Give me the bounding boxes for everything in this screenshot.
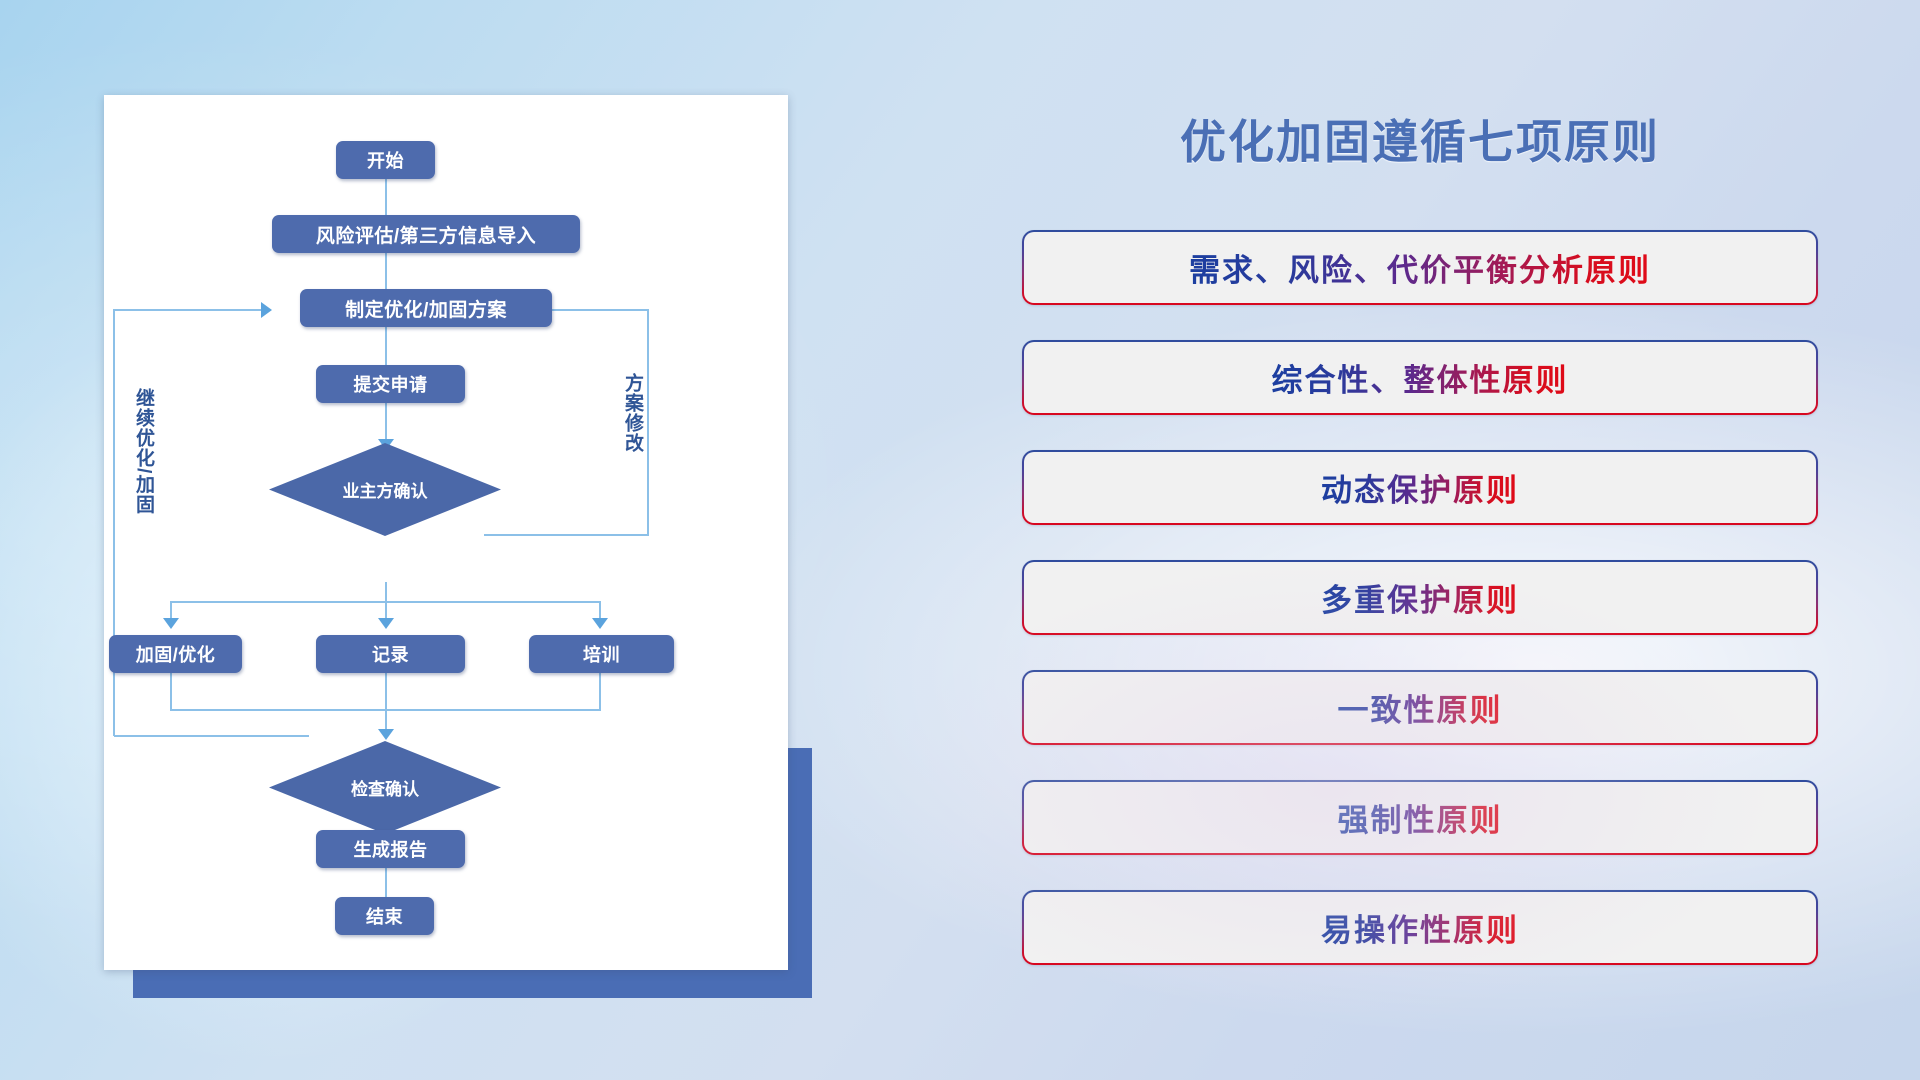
principle-item-7[interactable]: 易操作性原则 bbox=[1022, 890, 1818, 965]
edge-split-left-arrow bbox=[163, 618, 179, 629]
edge-label-continue-optimize: 继续优化/加固 bbox=[130, 388, 157, 514]
edge-merge-arrow bbox=[378, 729, 394, 740]
principle-label: 动态保护原则 bbox=[1321, 465, 1519, 510]
edge-rightloop-h-bottom bbox=[484, 534, 648, 536]
principle-label: 多重保护原则 bbox=[1321, 575, 1519, 620]
principle-label: 综合性、整体性原则 bbox=[1272, 355, 1569, 400]
slide-canvas: 开始 风险评估/第三方信息导入 制定优化/加固方案 提交申请 业主方确认 加固/… bbox=[0, 0, 1920, 1080]
edge-split-right-arrow bbox=[592, 618, 608, 629]
flow-node-generate-report[interactable]: 生成报告 bbox=[316, 830, 465, 868]
flow-node-risk-assessment[interactable]: 风险评估/第三方信息导入 bbox=[272, 215, 580, 253]
flowchart-diagram: 开始 风险评估/第三方信息导入 制定优化/加固方案 提交申请 业主方确认 加固/… bbox=[104, 95, 788, 970]
principle-label: 强制性原则 bbox=[1338, 795, 1503, 840]
principle-label: 易操作性原则 bbox=[1321, 905, 1519, 950]
flow-node-record[interactable]: 记录 bbox=[316, 635, 465, 673]
principle-item-6[interactable]: 强制性原则 bbox=[1022, 780, 1818, 855]
edge-split-stem bbox=[385, 582, 387, 602]
principle-item-1[interactable]: 需求、风险、代价平衡分析原则 bbox=[1022, 230, 1818, 305]
edge-merge-right bbox=[599, 671, 601, 711]
flow-node-training[interactable]: 培训 bbox=[529, 635, 674, 673]
edge-leftloop-arrow bbox=[261, 302, 272, 318]
flow-node-check-confirm[interactable]: 检查确认 bbox=[269, 741, 501, 834]
edge-submit-ownercfm bbox=[385, 402, 387, 444]
flow-node-end[interactable]: 结束 bbox=[335, 897, 434, 935]
flow-node-start[interactable]: 开始 bbox=[336, 141, 435, 179]
flow-node-reinforce-optimize[interactable]: 加固/优化 bbox=[109, 635, 242, 673]
flowchart-card: 开始 风险评估/第三方信息导入 制定优化/加固方案 提交申请 业主方确认 加固/… bbox=[104, 95, 788, 970]
flow-node-submit-application[interactable]: 提交申请 bbox=[316, 365, 465, 403]
flow-node-owner-confirm[interactable]: 业主方确认 bbox=[269, 443, 501, 536]
edge-label-plan-revise: 方案修改 bbox=[619, 373, 646, 453]
principles-list: 需求、风险、代价平衡分析原则 综合性、整体性原则 动态保护原则 多重保护原则 一… bbox=[1022, 230, 1818, 1000]
principle-item-3[interactable]: 动态保护原则 bbox=[1022, 450, 1818, 525]
edge-leftloop-h-bottom bbox=[114, 735, 309, 737]
principles-panel-title: 优化加固遵循七项原则 bbox=[1020, 106, 1820, 172]
edge-merge-left bbox=[170, 671, 172, 711]
principle-label: 需求、风险、代价平衡分析原则 bbox=[1189, 245, 1651, 290]
edge-rightloop-v bbox=[647, 309, 649, 536]
edge-merge-stem bbox=[385, 671, 387, 734]
principle-item-5[interactable]: 一致性原则 bbox=[1022, 670, 1818, 745]
principle-label: 一致性原则 bbox=[1338, 685, 1503, 730]
edge-leftloop-h-top bbox=[113, 309, 263, 311]
edge-split-mid-arrow bbox=[378, 618, 394, 629]
flow-node-plan[interactable]: 制定优化/加固方案 bbox=[300, 289, 552, 327]
principle-item-4[interactable]: 多重保护原则 bbox=[1022, 560, 1818, 635]
principle-item-2[interactable]: 综合性、整体性原则 bbox=[1022, 340, 1818, 415]
card-shadow-block-bottom bbox=[133, 968, 812, 998]
